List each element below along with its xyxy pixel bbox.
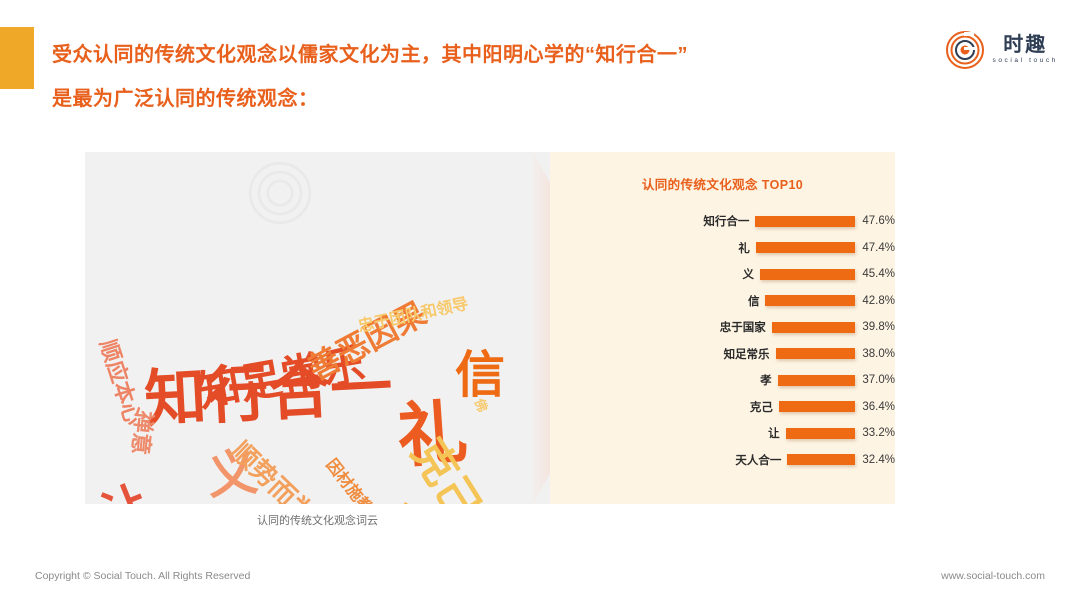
website-url: www.social-touch.com <box>941 570 1045 582</box>
wordcloud-word: 让 <box>95 479 158 504</box>
wordcloud-word: 因材施教 <box>322 457 374 504</box>
chart-value-label: 47.4% <box>862 242 895 254</box>
chart-bar-wrap: 42.8% <box>765 288 895 315</box>
chart-value-label: 32.4% <box>862 454 895 466</box>
chart-bar <box>787 454 855 465</box>
chart-category-label: 信 <box>550 293 765 309</box>
wordcloud-word: 禅意 <box>129 410 155 456</box>
chart-bar-wrap: 39.8% <box>772 314 895 341</box>
chart-value-label: 33.2% <box>862 427 895 439</box>
wordcloud-word: 孝 <box>384 497 434 504</box>
chart-bar-wrap: 32.4% <box>787 447 895 474</box>
chart-bar <box>765 295 855 306</box>
chart-category-label: 知行合一 <box>550 213 755 229</box>
chart-rows: 知行合一47.6%礼47.4%义45.4%信42.8%忠于国家39.8%知足常乐… <box>550 208 895 473</box>
chart-bar-row: 天人合一32.4% <box>550 447 895 474</box>
chart-bar-wrap: 47.4% <box>756 235 895 262</box>
chart-bar-row: 义45.4% <box>550 261 895 288</box>
chart-category-label: 知足常乐 <box>550 346 776 362</box>
copyright-text: Copyright © Social Touch. All Rights Res… <box>35 570 250 582</box>
chart-bar-row: 知行合一47.6% <box>550 208 895 235</box>
chart-bar-wrap: 45.4% <box>760 261 895 288</box>
chart-bar-row: 礼47.4% <box>550 235 895 262</box>
chart-bar <box>786 428 856 439</box>
chart-value-label: 47.6% <box>862 215 895 227</box>
chart-category-label: 礼 <box>550 240 756 256</box>
chart-bar <box>756 242 856 253</box>
chart-category-label: 克己 <box>550 399 779 415</box>
chart-bar <box>778 375 856 386</box>
chart-bar-row: 信42.8% <box>550 288 895 315</box>
content-area: 知行合一礼信忠于国家知足常乐义让善恶因果克己天人合一顺势而为顺应本心孝忠于团队和… <box>85 152 895 504</box>
chart-title: 认同的传统文化观念 TOP10 <box>550 174 895 193</box>
logo-name-cn: 时趣 <box>1003 35 1047 55</box>
chart-bar-row: 忠于国家39.8% <box>550 314 895 341</box>
chart-bar <box>776 348 856 359</box>
chart-bar <box>772 322 856 333</box>
chart-value-label: 42.8% <box>862 295 895 307</box>
chart-bar-row: 让33.2% <box>550 420 895 447</box>
chart-bar-wrap: 38.0% <box>776 341 895 368</box>
logo-name-en: social touch <box>992 58 1058 65</box>
wordcloud-panel: 知行合一礼信忠于国家知足常乐义让善恶因果克己天人合一顺势而为顺应本心孝忠于团队和… <box>85 152 550 504</box>
chart-category-label: 孝 <box>550 372 778 388</box>
chart-bar-row: 孝37.0% <box>550 367 895 394</box>
wordcloud-word: 佛 <box>473 397 490 414</box>
wordcloud-word: 信 <box>455 350 505 400</box>
wordcloud-caption: 认同的传统文化观念词云 <box>85 512 550 528</box>
chart-category-label: 忠于国家 <box>550 319 772 335</box>
spiral-icon <box>945 30 985 70</box>
page-title: 受众认同的传统文化观念以儒家文化为主，其中阳明心学的“知行合一” 是最为广泛认同… <box>52 33 932 121</box>
chart-value-label: 37.0% <box>862 374 895 386</box>
chart-bar <box>755 216 855 227</box>
chart-category-label: 义 <box>550 266 760 282</box>
watermark-spiral-icon <box>245 158 315 228</box>
title-line-2: 是最为广泛认同的传统观念： <box>52 77 932 121</box>
accent-bar <box>0 27 34 89</box>
chart-category-label: 让 <box>550 425 786 441</box>
chart-panel: 认同的传统文化观念 TOP10 知行合一47.6%礼47.4%义45.4%信42… <box>550 152 895 504</box>
chart-bar-row: 知足常乐38.0% <box>550 341 895 368</box>
chart-category-label: 天人合一 <box>550 452 787 468</box>
title-line-1: 受众认同的传统文化观念以儒家文化为主，其中阳明心学的“知行合一” <box>52 33 932 77</box>
chart-bar-row: 克己36.4% <box>550 394 895 421</box>
chart-value-label: 38.0% <box>862 348 895 360</box>
chart-bar-wrap: 36.4% <box>779 394 895 421</box>
brand-logo: 时趣 social touch <box>945 30 1058 70</box>
chart-bar-wrap: 37.0% <box>778 367 895 394</box>
chart-value-label: 39.8% <box>862 321 895 333</box>
chart-bar <box>760 269 855 280</box>
chart-value-label: 36.4% <box>862 401 895 413</box>
chart-bar-wrap: 47.6% <box>755 208 895 235</box>
chart-value-label: 45.4% <box>862 268 895 280</box>
logo-wordmark: 时趣 social touch <box>992 35 1058 65</box>
chart-bar <box>779 401 855 412</box>
slide-root: 受众认同的传统文化观念以儒家文化为主，其中阳明心学的“知行合一” 是最为广泛认同… <box>0 0 1080 608</box>
chart-bar-wrap: 33.2% <box>786 420 895 447</box>
